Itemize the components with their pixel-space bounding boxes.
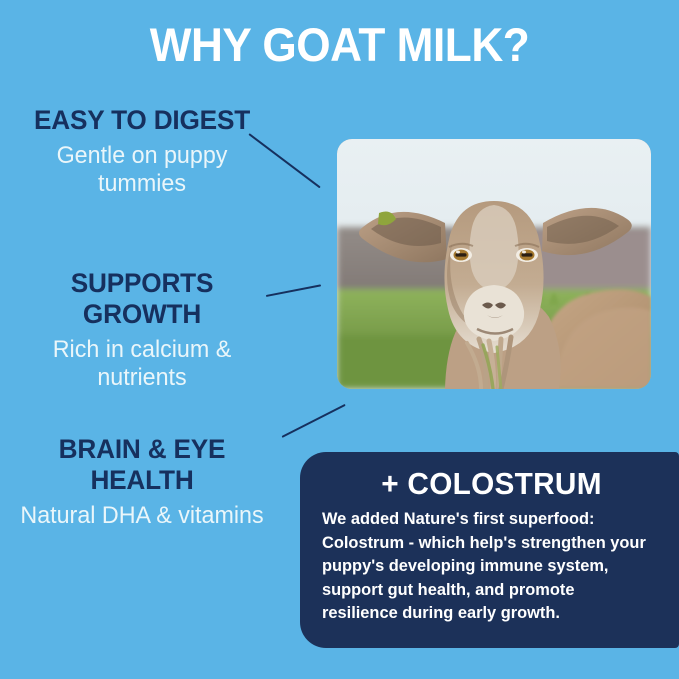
benefit-title: BRAIN & EYE HEALTH: [12, 434, 272, 496]
benefit-title: SUPPORTS GROWTH: [12, 268, 272, 330]
benefit-block-supports-growth: SUPPORTS GROWTH Rich in calcium & nutrie…: [8, 268, 276, 392]
page-title: WHY GOAT MILK?: [20, 18, 658, 72]
infographic-canvas: WHY GOAT MILK? EASY TO DIGEST Gentle on …: [0, 0, 679, 679]
colostrum-card: + COLOSTRUM We added Nature's first supe…: [300, 452, 679, 648]
benefit-subtitle: Rich in calcium & nutrients: [12, 336, 272, 392]
connector-line-icon: [282, 404, 346, 438]
benefit-subtitle: Gentle on puppy tummies: [12, 142, 272, 198]
colostrum-body-text: We added Nature's first superfood: Colos…: [322, 507, 649, 625]
benefit-block-brain-and-eye-health: BRAIN & EYE HEALTH Natural DHA & vitamin…: [8, 434, 276, 530]
benefit-block-easy-to-digest: EASY TO DIGEST Gentle on puppy tummies: [8, 105, 276, 198]
goat-photo: [337, 139, 651, 389]
colostrum-title: + COLOSTRUM: [329, 465, 654, 503]
benefit-subtitle: Natural DHA & vitamins: [12, 502, 272, 530]
goat-illustration-icon: [337, 139, 651, 389]
benefit-title: EASY TO DIGEST: [12, 105, 272, 136]
